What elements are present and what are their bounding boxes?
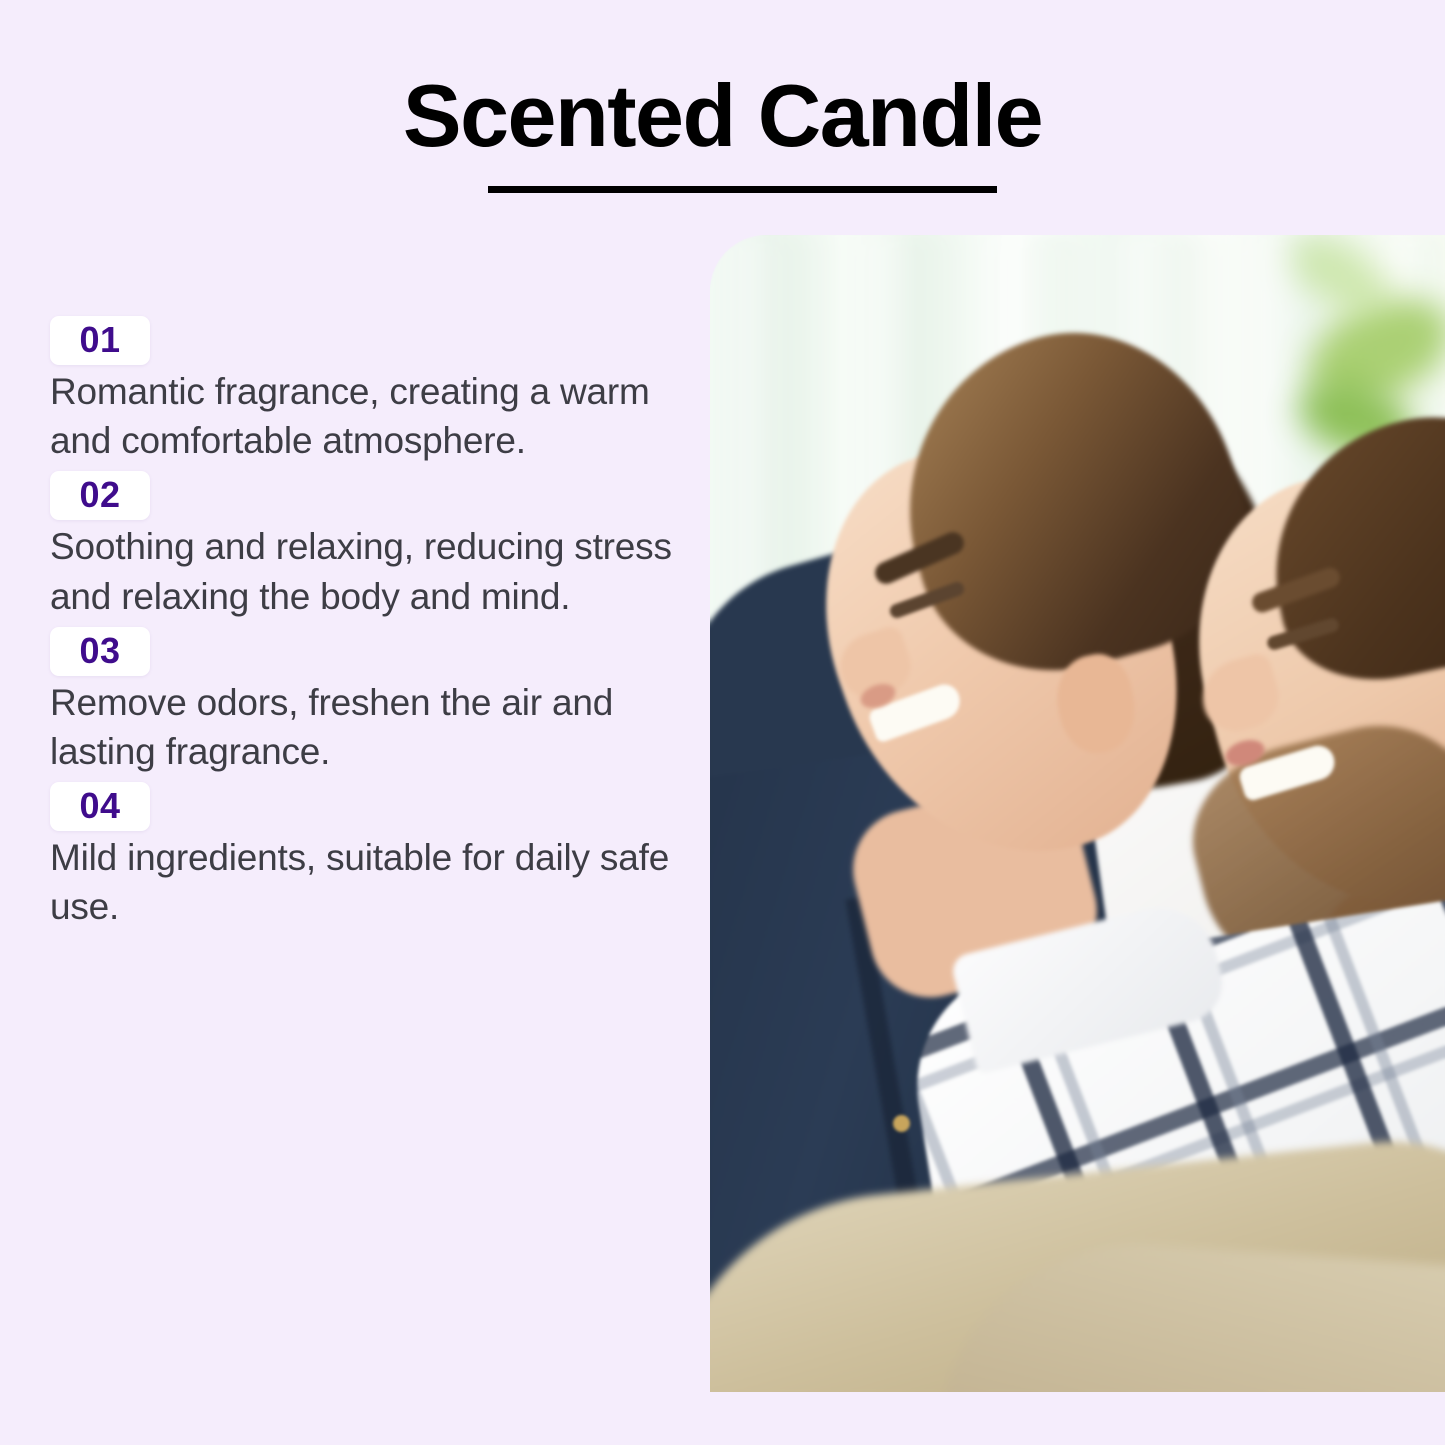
title-block: Scented Candle <box>0 70 1445 162</box>
feature-badge: 01 <box>50 316 150 365</box>
feature-number: 04 <box>79 785 120 826</box>
page-title: Scented Candle <box>0 70 1445 162</box>
feature-item-01: 01 Romantic fragrance, creating a warm a… <box>50 316 690 465</box>
feature-badge: 02 <box>50 471 150 520</box>
feature-number: 03 <box>79 630 120 671</box>
left-man-shirt-button <box>893 1115 910 1132</box>
feature-text: Soothing and relaxing, reducing stress a… <box>50 522 690 620</box>
lifestyle-photo <box>710 235 1445 1392</box>
feature-text: Remove odors, freshen the air and lastin… <box>50 678 690 776</box>
feature-item-03: 03 Remove odors, freshen the air and las… <box>50 627 690 776</box>
feature-text: Romantic fragrance, creating a warm and … <box>50 367 690 465</box>
feature-item-02: 02 Soothing and relaxing, reducing stres… <box>50 471 690 620</box>
product-infographic: Scented Candle 01 Romantic fragrance, cr… <box>0 0 1445 1445</box>
title-underline-rule <box>488 186 997 193</box>
feature-item-04: 04 Mild ingredients, suitable for daily … <box>50 782 690 931</box>
feature-text: Mild ingredients, suitable for daily saf… <box>50 833 690 931</box>
feature-badge: 04 <box>50 782 150 831</box>
feature-list: 01 Romantic fragrance, creating a warm a… <box>50 316 690 938</box>
feature-number: 02 <box>79 474 120 515</box>
feature-number: 01 <box>79 319 120 360</box>
feature-badge: 03 <box>50 627 150 676</box>
